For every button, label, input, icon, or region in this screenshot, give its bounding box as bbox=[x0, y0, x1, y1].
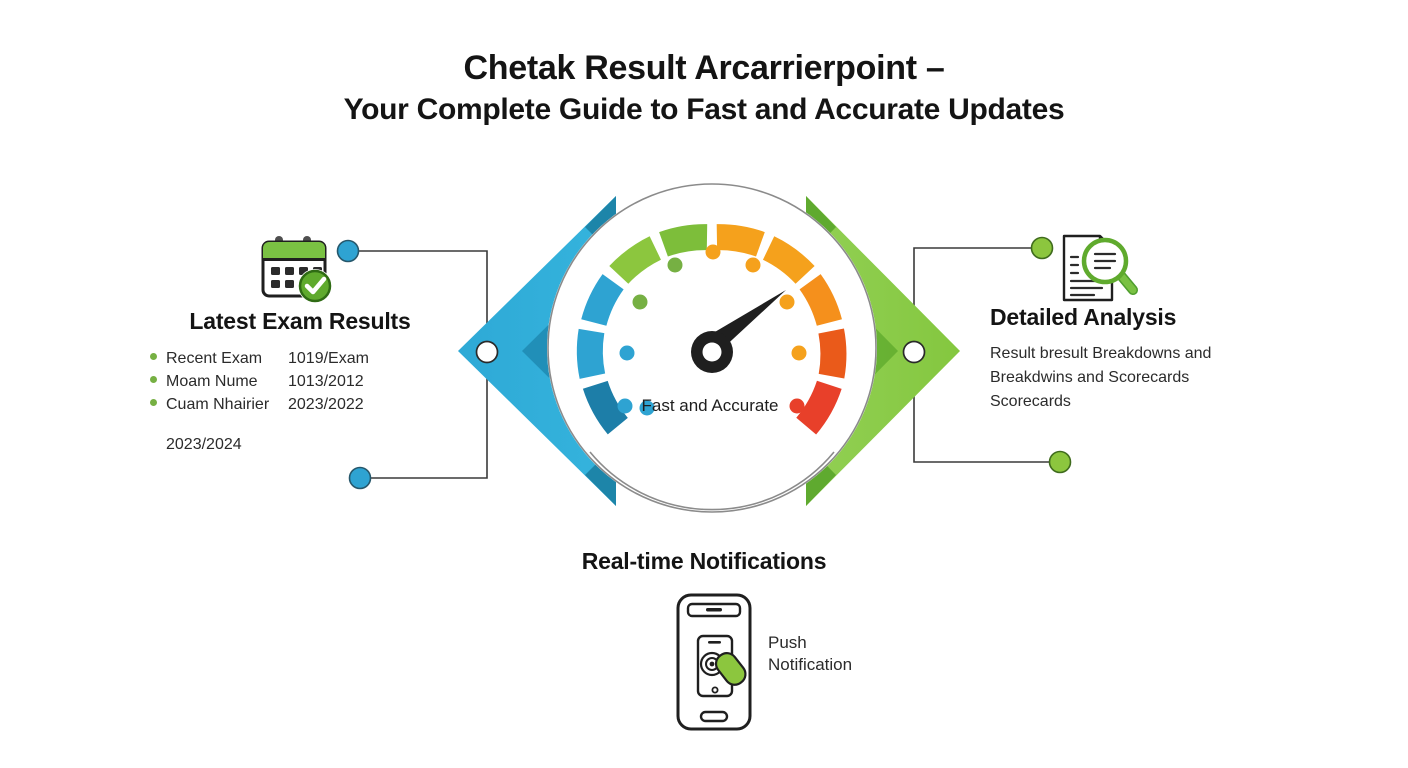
description-line: Breakdwins and Scorecards bbox=[990, 366, 1300, 390]
right-node-bottom[interactable] bbox=[1050, 452, 1071, 473]
description-line: Result bresult Breakdowns and bbox=[990, 342, 1300, 366]
smartphone-tap-icon bbox=[668, 592, 760, 732]
list-item: Cuam Nhairier 2023/2022 bbox=[150, 393, 450, 416]
left-node-middle[interactable] bbox=[477, 342, 498, 363]
list-item: Recent Exam 1019/Exam bbox=[150, 347, 450, 370]
push-notification-label: Push Notification bbox=[768, 632, 852, 677]
detailed-analysis-panel: Detailed Analysis Result bresult Breakdo… bbox=[990, 234, 1300, 414]
row-label: Cuam Nhairier bbox=[166, 393, 288, 416]
right-panel-description: Result bresult Breakdowns and Breakdwins… bbox=[990, 342, 1300, 414]
bottom-panel-heading: Real-time Notifications bbox=[0, 548, 1408, 575]
right-panel-heading: Detailed Analysis bbox=[990, 304, 1300, 331]
infographic-canvas: Chetak Result Arcarrierpoint – Your Comp… bbox=[0, 0, 1408, 768]
list-item: Moam Nume 1013/2012 bbox=[150, 370, 450, 393]
right-node-middle[interactable] bbox=[904, 342, 925, 363]
calendar-check-icon bbox=[258, 234, 338, 308]
description-line: Scorecards bbox=[990, 390, 1300, 414]
row-label: Recent Exam bbox=[166, 347, 288, 370]
bullet-icon bbox=[150, 353, 157, 360]
push-label-line-1: Push bbox=[768, 632, 852, 654]
row-value: 1013/2012 bbox=[288, 370, 364, 393]
row-value: 2023/2022 bbox=[288, 393, 364, 416]
latest-exam-results-panel: Latest Exam Results Recent Exam 1019/Exa… bbox=[150, 240, 450, 456]
bullet-icon bbox=[150, 376, 157, 383]
left-panel-extra-line: 2023/2024 bbox=[166, 433, 450, 456]
row-value: 1019/Exam bbox=[288, 347, 369, 370]
exam-results-list: Recent Exam 1019/Exam Moam Nume 1013/201… bbox=[150, 347, 450, 417]
row-label: Moam Nume bbox=[166, 370, 288, 393]
push-label-line-2: Notification bbox=[768, 654, 852, 676]
left-node-bottom[interactable] bbox=[350, 468, 371, 489]
gauge-center-label: Fast and Accurate bbox=[560, 396, 860, 416]
document-magnifier-icon bbox=[1058, 232, 1142, 304]
bullet-icon bbox=[150, 399, 157, 406]
speedometer-gauge bbox=[547, 183, 877, 513]
left-panel-heading: Latest Exam Results bbox=[150, 308, 450, 335]
